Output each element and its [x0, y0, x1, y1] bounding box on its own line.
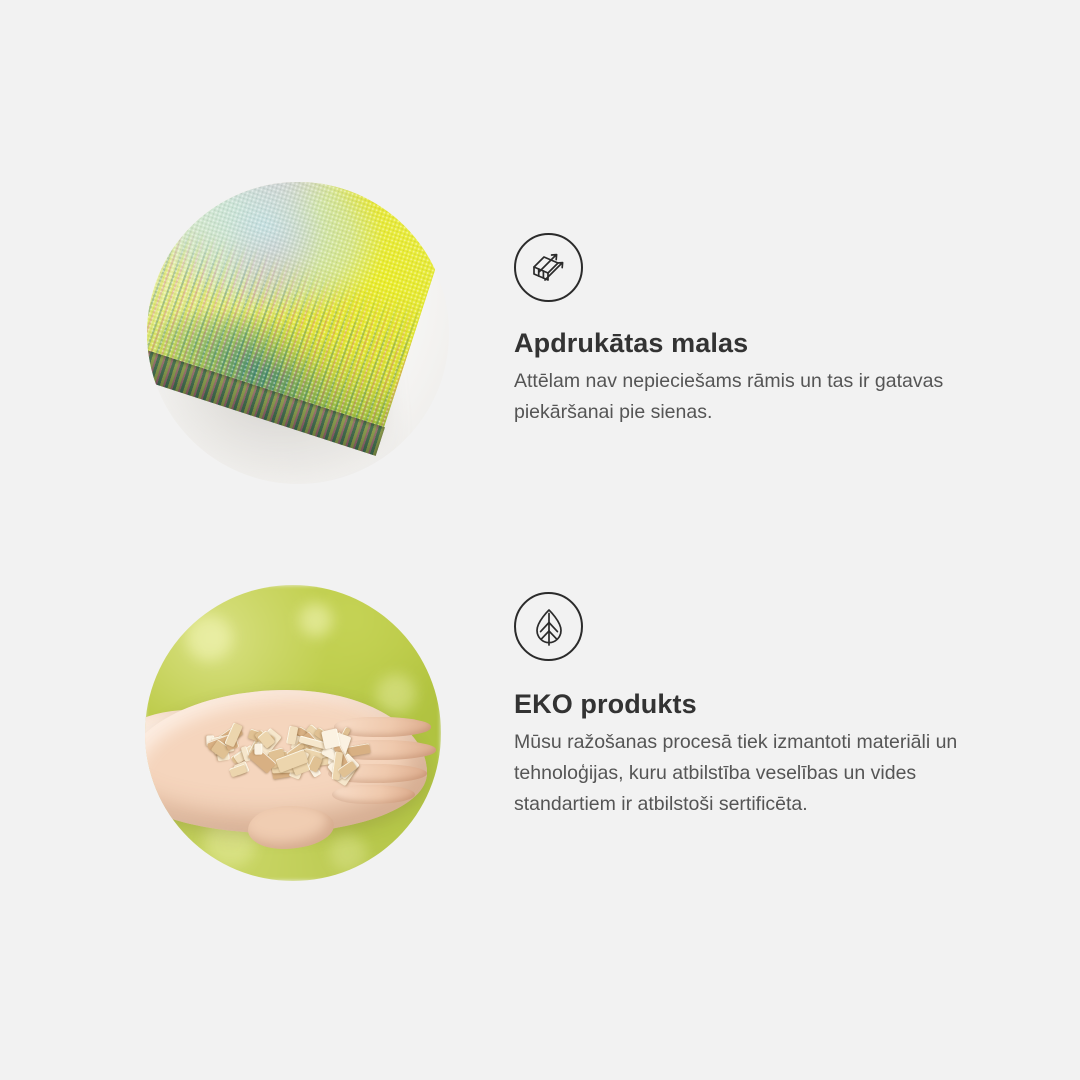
infographic-stage: Apdrukātas malas Attēlam nav nepieciešam… [0, 0, 1080, 1080]
canvas-corner-photo [147, 182, 449, 484]
cupped-hands [145, 674, 441, 840]
wood-chip [346, 743, 370, 756]
feature-description: Mūsu ražošanas procesā tiek izmantoti ma… [514, 727, 1006, 820]
finger [332, 785, 415, 804]
feature-title: EKO produkts [514, 689, 1006, 720]
feature-description: Attēlam nav nepieciešams rāmis un tas ir… [514, 366, 1006, 428]
feature-title: Apdrukātas malas [514, 328, 1006, 359]
wood-chips-pile [202, 730, 381, 780]
wood-chip [229, 763, 247, 777]
bokeh-light [186, 615, 232, 661]
bokeh-light [299, 603, 333, 637]
leaf-icon [514, 592, 583, 661]
wood-chip [254, 744, 262, 755]
printed-edges-icon [514, 233, 583, 302]
feature-printed-edges: Apdrukātas malas Attēlam nav nepieciešam… [514, 233, 1006, 428]
feature-eko: EKO produkts Mūsu ražošanas procesā tiek… [514, 592, 1006, 820]
wood-chips-in-hands-photo [145, 585, 441, 881]
